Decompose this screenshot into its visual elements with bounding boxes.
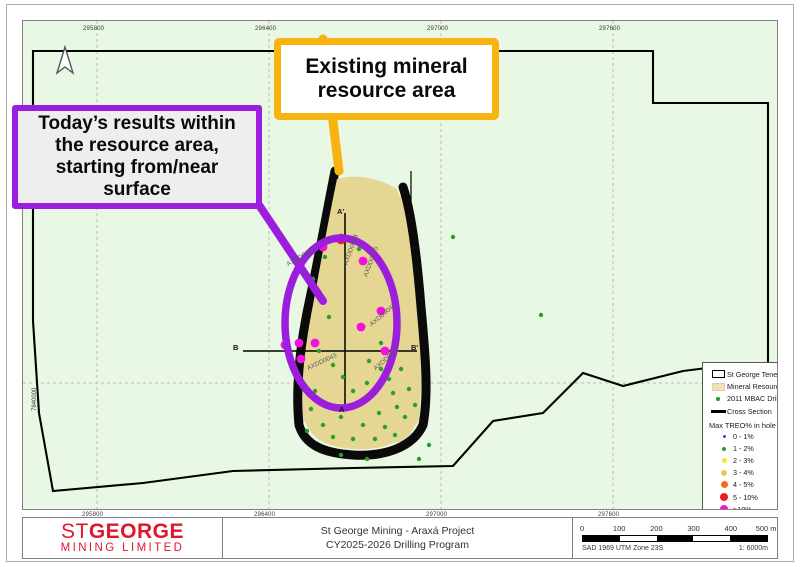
scale-bar-block: 0 100 200 300 400 500 m SAD 1969 UTM Zon…	[573, 518, 777, 558]
scale-number: 200	[650, 524, 663, 533]
legend-label: 5 - 10%	[733, 493, 758, 502]
scale-number: 100	[613, 524, 626, 533]
section-marker-b-prime: B'	[411, 343, 418, 352]
figure-footer: STGEORGE MINING LIMITED St George Mining…	[22, 517, 778, 559]
legend-label: Cross Section	[727, 407, 772, 416]
legend-grade-2-3: 2 - 3%	[709, 455, 778, 467]
logo-text-st: ST	[61, 520, 89, 543]
logo-text-george: GEORGE	[89, 520, 184, 543]
legend-label: 3 - 4%	[733, 468, 754, 477]
tenement-swatch-icon	[709, 370, 727, 378]
scale-segment	[730, 536, 767, 541]
legend-grade-0-1: 0 - 1%	[709, 431, 778, 443]
grade-dot-icon	[715, 458, 733, 463]
grade-dot-icon	[715, 435, 733, 438]
legend-item-mbac-drilling: 2011 MBAC Drilling	[709, 393, 778, 405]
grade-dot-icon	[715, 493, 733, 501]
grade-dot-icon	[715, 470, 733, 476]
x-tick-label: 296400	[255, 26, 276, 32]
callout-text: Existing mineral resource area	[289, 55, 484, 104]
scale-number: 300	[687, 524, 700, 533]
legend-grade-over-10: >10%	[709, 503, 778, 510]
scale-ratio-label: 1: 6000m	[739, 545, 768, 552]
scale-segment	[657, 536, 694, 541]
grade-dot-icon	[715, 481, 733, 488]
company-logo: STGEORGE MINING LIMITED	[23, 518, 223, 558]
map-figure: 295800 296400 297000 297600 7840000 A' A…	[0, 0, 800, 567]
figure-title: St George Mining - Araxá Project CY2025-…	[223, 518, 573, 558]
scale-bar-graphic	[582, 535, 768, 542]
title-line-2: CY2025-2026 Drilling Program	[321, 538, 475, 552]
legend-item-cross-section: Cross Section	[709, 405, 778, 417]
legend-label: Mineral Resource Outline	[727, 382, 778, 391]
section-marker-b: B	[233, 343, 238, 352]
x-tick-label: 297600	[599, 26, 620, 32]
legend-item-tenements: St George Tenements	[709, 368, 778, 380]
callout-text: Today’s results within the resource area…	[24, 113, 250, 201]
legend-label: 1 - 2%	[733, 444, 754, 453]
map-legend[interactable]: St George Tenements Mineral Resource Out…	[702, 362, 778, 510]
callout-existing-resource[interactable]: Existing mineral resource area	[274, 38, 499, 120]
grade-dot-icon	[715, 447, 733, 451]
scale-segment	[693, 536, 730, 541]
resource-swatch-icon	[709, 383, 727, 391]
title-line-1: St George Mining - Araxá Project	[321, 524, 475, 538]
legend-label: 2 - 3%	[733, 456, 754, 465]
legend-label: 0 - 1%	[733, 432, 754, 441]
scale-number: 500 m	[756, 524, 777, 533]
section-marker-a: A	[339, 405, 344, 414]
x-tick-label: 297000	[427, 26, 448, 32]
logo-subtitle: MINING LIMITED	[61, 543, 185, 555]
legend-grade-1-2: 1 - 2%	[709, 443, 778, 455]
scale-number: 400	[725, 524, 738, 533]
legend-grade-title: Max TREO% in hole	[709, 421, 778, 430]
grade-dot-icon	[715, 505, 733, 510]
line-swatch-icon	[709, 410, 727, 412]
datum-label: SAD 1969 UTM Zone 23S	[582, 545, 663, 552]
scale-numbers: 0 100 200 300 400 500 m	[582, 524, 768, 534]
callout-todays-results[interactable]: Today’s results within the resource area…	[12, 105, 262, 209]
green-dot-icon	[709, 397, 727, 400]
x-tick-label: 295800	[83, 26, 104, 32]
y-tick-label: 7840000	[32, 388, 38, 411]
section-marker-a-prime: A'	[337, 207, 344, 216]
legend-label: 2011 MBAC Drilling	[727, 394, 778, 403]
legend-item-resource-outline: Mineral Resource Outline	[709, 380, 778, 392]
scale-number: 0	[580, 524, 584, 533]
legend-label: >10%	[733, 505, 752, 510]
legend-grade-5-10: 5 - 10%	[709, 491, 778, 503]
legend-grade-3-4: 3 - 4%	[709, 467, 778, 479]
scale-segment	[620, 536, 657, 541]
legend-grade-4-5: 4 - 5%	[709, 479, 778, 491]
resource-fill-inner	[304, 177, 420, 450]
legend-label: 4 - 5%	[733, 480, 754, 489]
legend-label: St George Tenements	[727, 370, 778, 379]
scale-segment	[583, 536, 620, 541]
